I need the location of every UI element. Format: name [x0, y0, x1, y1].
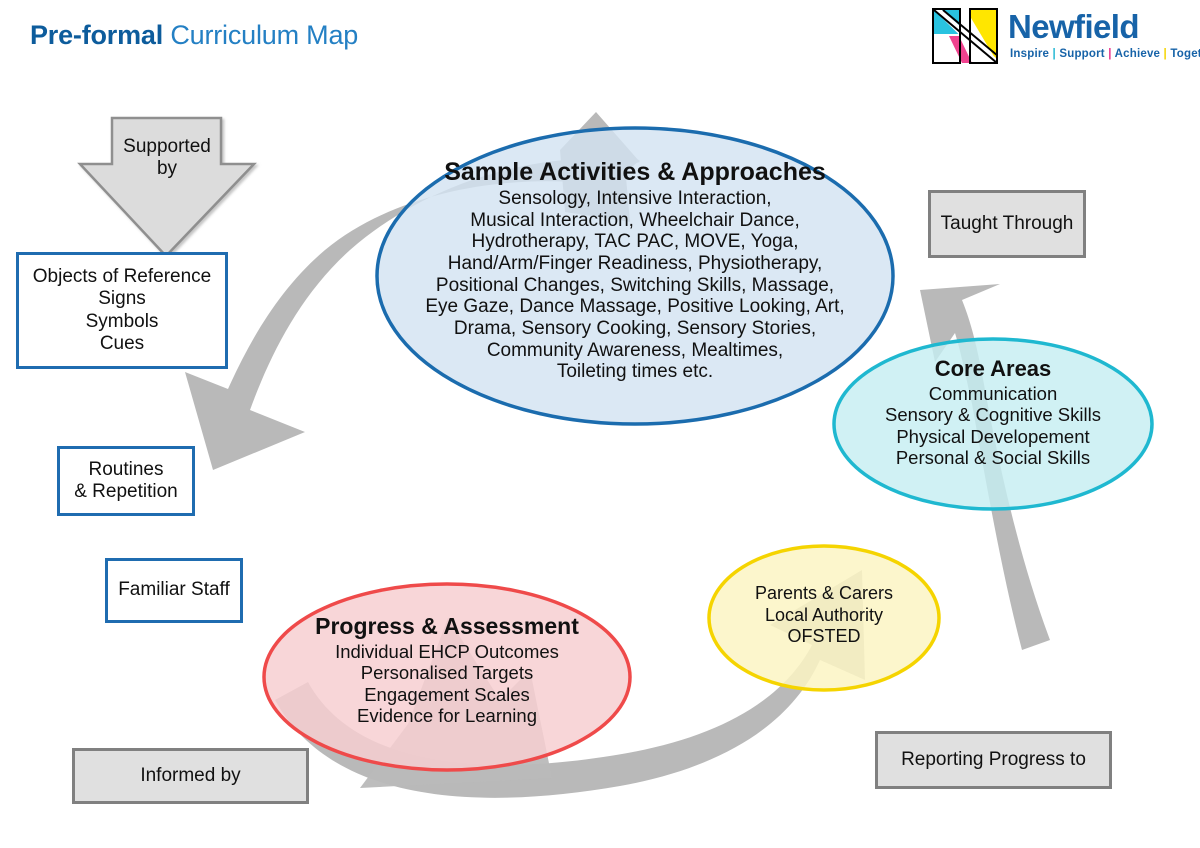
objects-of-reference-line-3: Symbols	[86, 311, 159, 333]
objects-of-reference-line-2: Signs	[98, 288, 146, 310]
ellipse-core-areas	[834, 339, 1152, 509]
objects-of-reference-line-4: Cues	[100, 333, 144, 355]
box-informed-by[interactable]: Informed by	[72, 748, 309, 804]
ellipse-stakeholders	[709, 546, 939, 690]
objects-of-reference-line-1: Objects of Reference	[33, 266, 211, 288]
informed-by-label: Informed by	[140, 765, 240, 788]
routines-repetition-line-1: Routines	[89, 459, 164, 481]
box-reporting-progress-to[interactable]: Reporting Progress to	[875, 731, 1112, 789]
supported-by-line-1: Supported	[123, 136, 211, 158]
box-taught-through[interactable]: Taught Through	[928, 190, 1086, 258]
curriculum-map-canvas: Pre-formal Curriculum Map Newfield Inspi…	[0, 0, 1200, 848]
box-routines-repetition[interactable]: Routines & Repetition	[57, 446, 195, 516]
supported-by-line-2: by	[157, 158, 177, 180]
box-familiar-staff[interactable]: Familiar Staff	[105, 558, 243, 623]
ellipse-sample-activities	[377, 128, 893, 424]
familiar-staff-line-1: Familiar Staff	[118, 579, 230, 601]
routines-repetition-line-2: & Repetition	[74, 481, 178, 503]
reporting-progress-to-label: Reporting Progress to	[901, 749, 1086, 772]
ellipse-progress-assessment	[264, 584, 630, 770]
callout-supported-by: Supported by	[108, 128, 226, 188]
box-objects-of-reference[interactable]: Objects of Reference Signs Symbols Cues	[16, 252, 228, 369]
taught-through-label: Taught Through	[941, 213, 1074, 236]
